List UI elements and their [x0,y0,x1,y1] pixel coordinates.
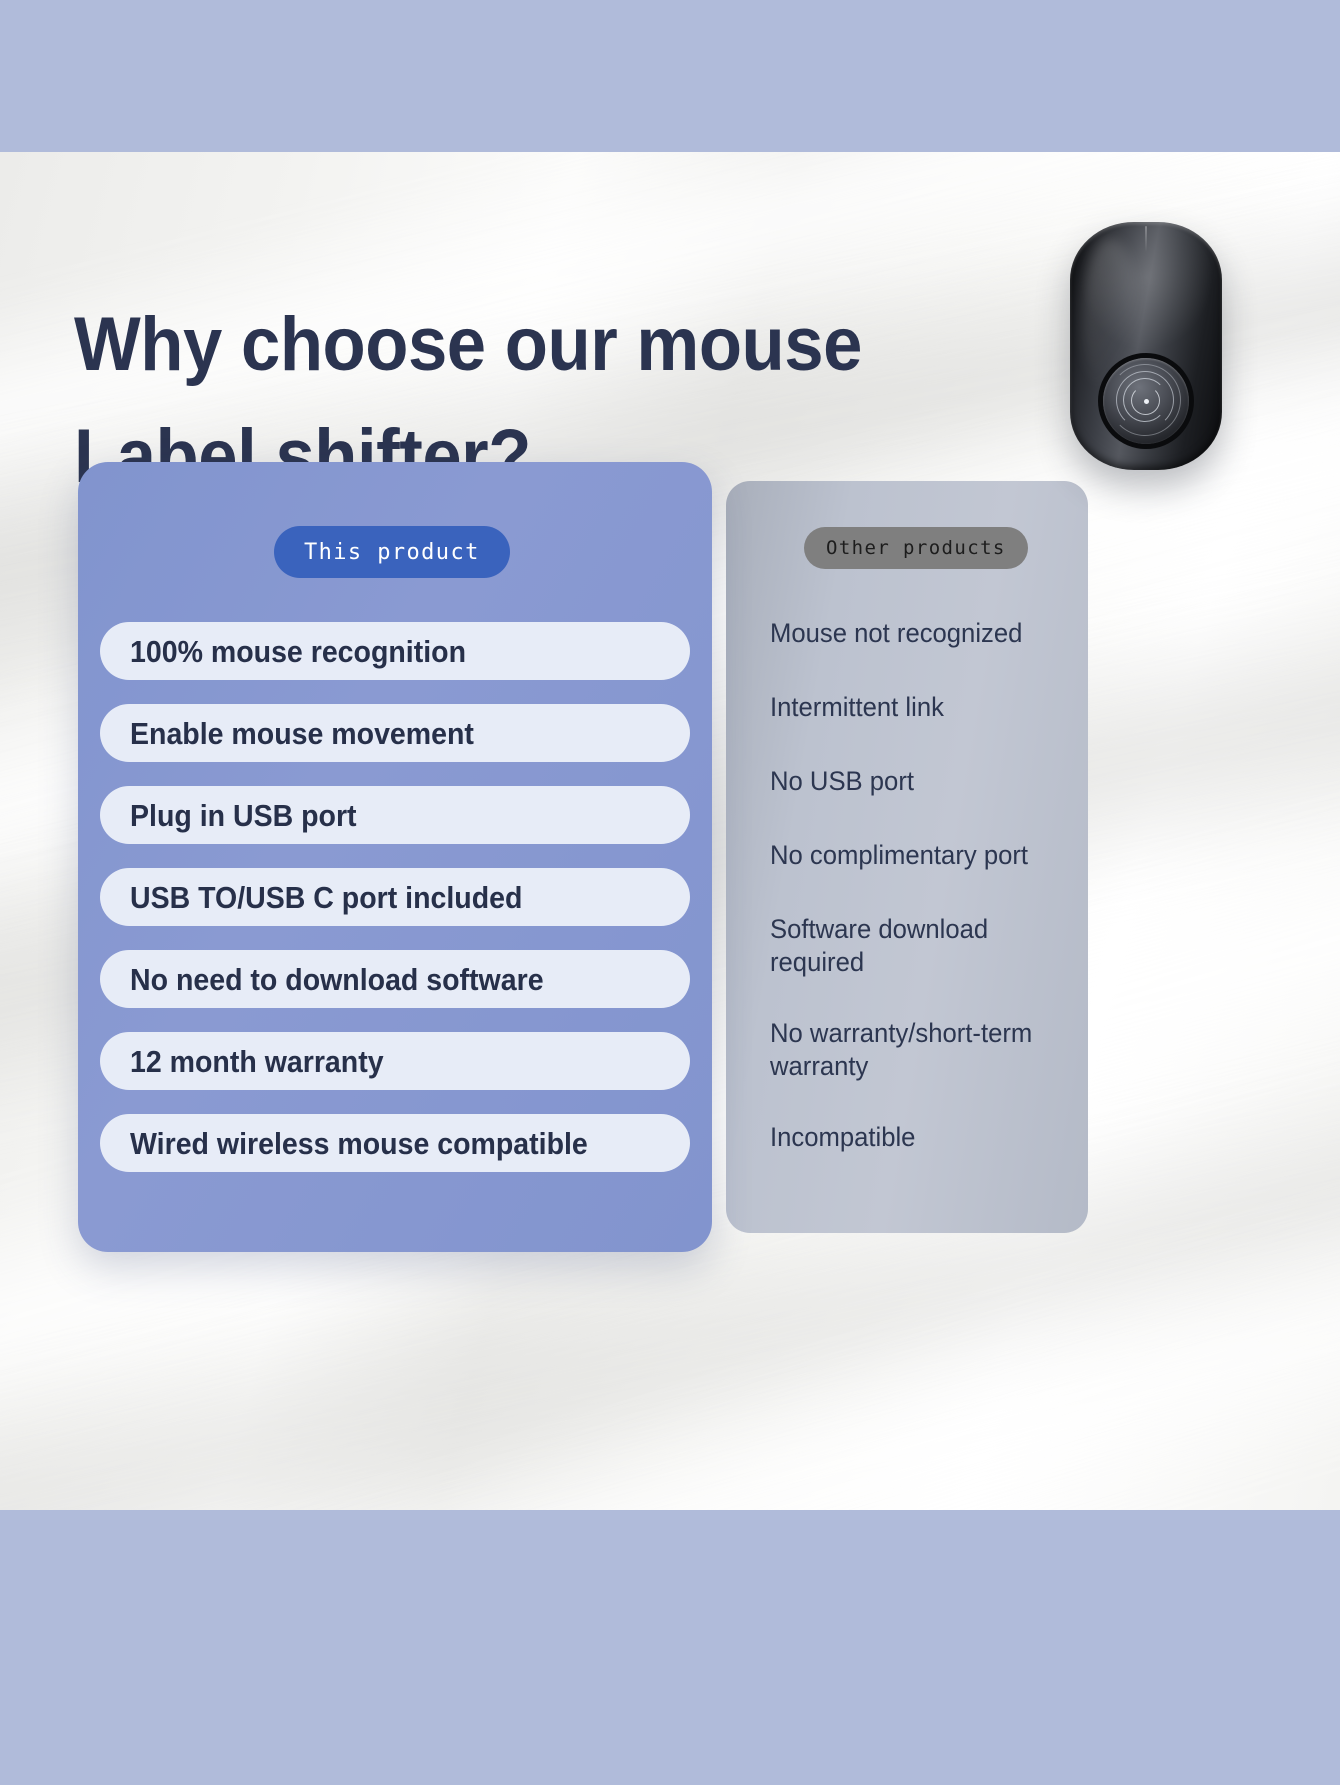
list-item: No warranty/short-term warranty [770,1017,1061,1121]
list-item: USB TO/USB C port included [100,868,690,926]
other-products-list: Mouse not recognized Intermittent link N… [770,617,1076,1195]
other-products-badge: Other products [804,527,1028,569]
list-item: Software download required [770,913,1061,1017]
other-products-panel: Other products Mouse not recognized Inte… [726,481,1088,1233]
list-item: 100% mouse recognition [100,622,690,680]
feature-label: 12 month warranty [130,1046,384,1077]
feature-label: 100% mouse recognition [130,636,466,667]
list-item: Wired wireless mouse compatible [100,1114,690,1172]
feature-label: Wired wireless mouse compatible [130,1128,588,1159]
this-product-panel: This product 100% mouse recognition Enab… [78,462,712,1252]
feature-label: Plug in USB port [130,800,357,831]
list-item: Enable mouse movement [100,704,690,762]
list-item: No need to download software [100,950,690,1008]
this-product-feature-list: 100% mouse recognition Enable mouse move… [100,622,690,1196]
this-product-badge: This product [274,526,510,578]
product-comparison-poster: Why choose our mouse Label shifter? Othe… [0,0,1340,1785]
mouse-product-photo [1070,222,1222,470]
feature-label: Enable mouse movement [130,718,474,749]
list-item: No complimentary port [770,839,1061,913]
list-item: No USB port [770,765,1061,839]
wheel-center-dot [1144,399,1149,404]
page-title-line-1: Why choose our mouse [74,289,892,401]
list-item: Plug in USB port [100,786,690,844]
mouse-scroll-wheel-icon [1103,358,1189,444]
top-color-band [0,0,1340,152]
feature-label: USB TO/USB C port included [130,882,522,913]
mouse-body [1070,222,1222,470]
feature-label: No need to download software [130,964,544,995]
list-item: Incompatible [770,1121,1061,1195]
list-item: 12 month warranty [100,1032,690,1090]
list-item: Mouse not recognized [770,617,1061,691]
bottom-color-band [0,1510,1340,1785]
list-item: Intermittent link [770,691,1061,765]
mouse-button-seam [1145,226,1147,252]
